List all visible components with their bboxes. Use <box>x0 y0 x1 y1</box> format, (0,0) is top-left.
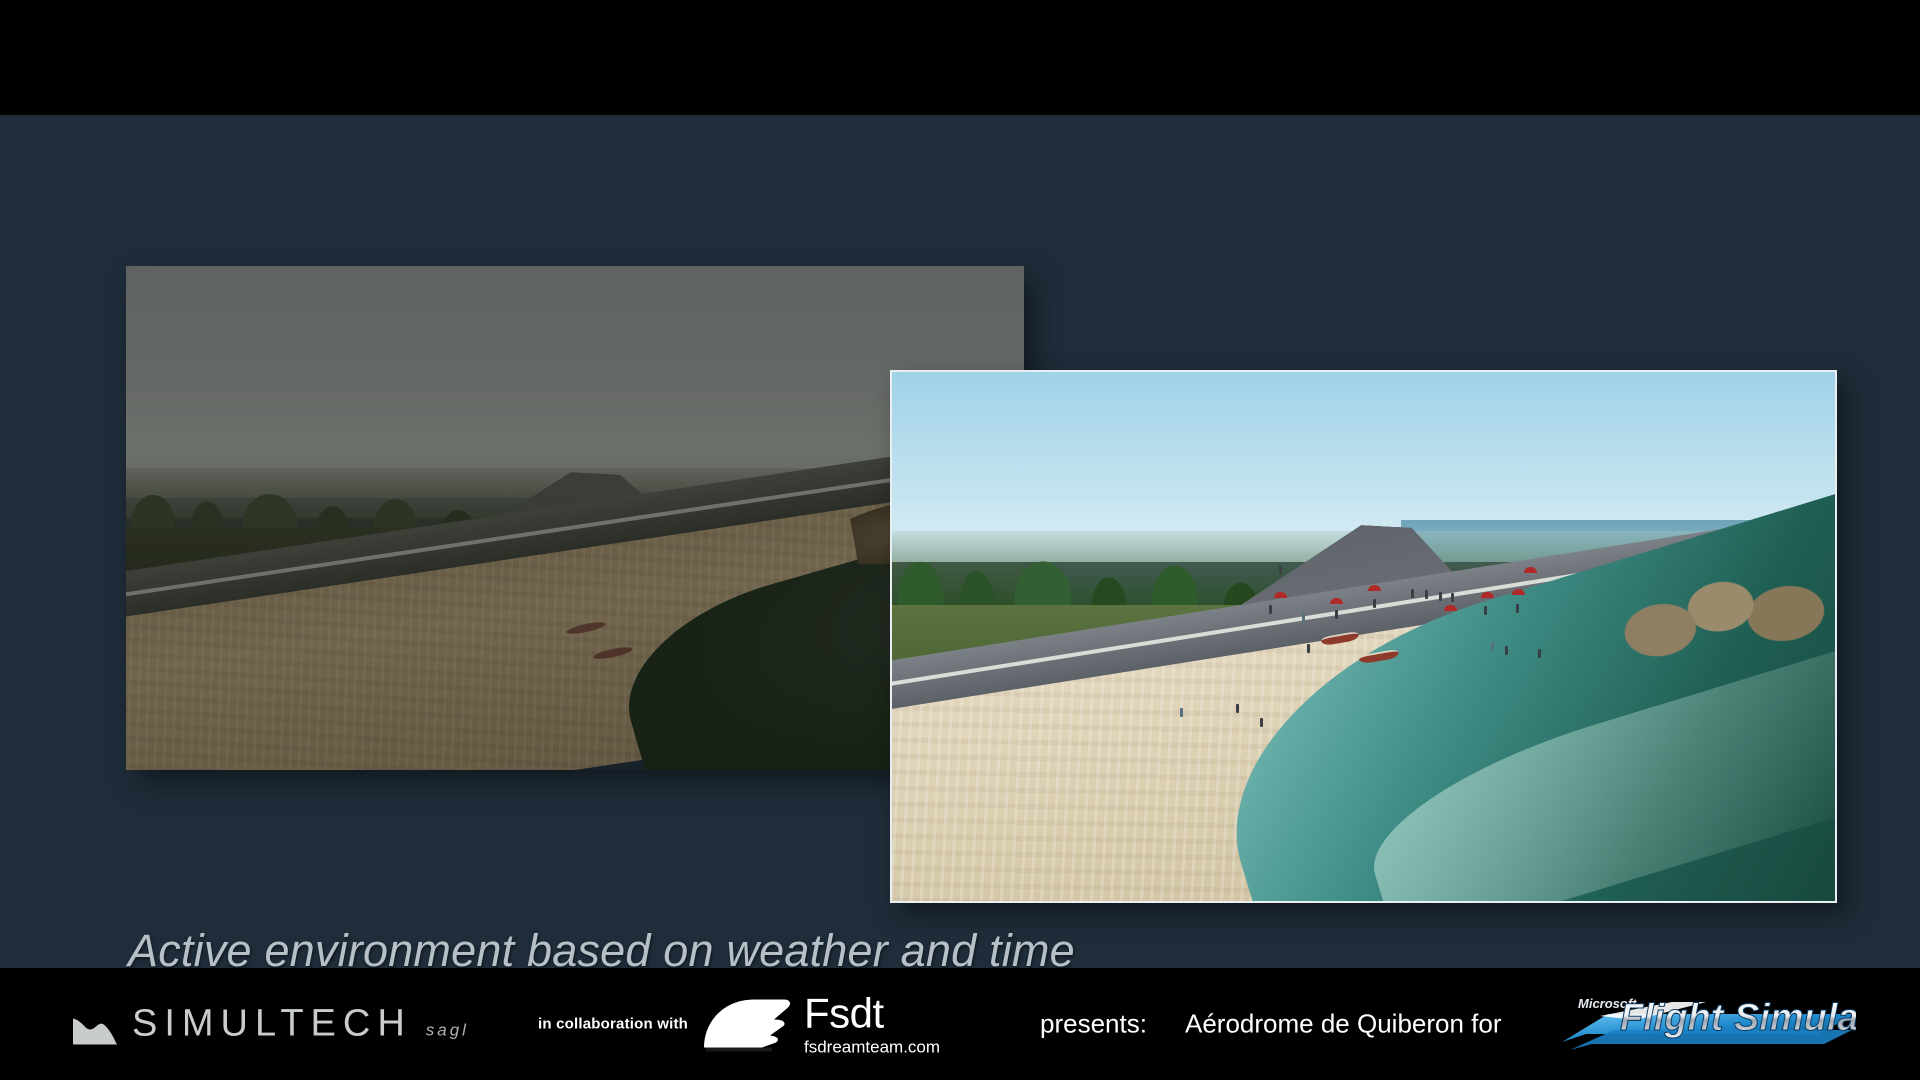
beach-person <box>1505 646 1508 655</box>
fsdt-wing-icon <box>700 995 792 1053</box>
beach-umbrella-icon <box>1524 567 1537 573</box>
simultech-wordmark: SIMULTECH <box>132 1003 412 1046</box>
presents-label: presents: <box>1040 1009 1147 1040</box>
beach-person <box>1425 590 1428 599</box>
beach-person <box>1411 589 1414 598</box>
beach-person <box>1439 592 1442 601</box>
product-title: Aérodrome de Quiberon for <box>1185 1009 1502 1040</box>
beach-person <box>1260 718 1263 727</box>
beach-person <box>1279 565 1282 574</box>
microsoft-flight-simulator-logo[interactable]: Microsoft Flight Simulator <box>1556 986 1856 1062</box>
slide-stage: Active environment based on weather and … <box>0 115 1920 968</box>
beach-person <box>1307 644 1310 653</box>
letterbox-bar-top <box>0 0 1920 115</box>
slide-footer: SIMULTECH sagl in collaboration with Fsd… <box>0 968 1920 1080</box>
fsdt-name: Fsdt <box>804 993 940 1035</box>
beach-person <box>1484 606 1487 615</box>
beach-person <box>1236 704 1239 713</box>
beach-person <box>1180 708 1183 717</box>
msfs-flight-simulator-text: Flight Simulator <box>1620 997 1856 1039</box>
collaboration-label: in collaboration with <box>538 1016 688 1033</box>
beach-person <box>1538 649 1541 658</box>
beach-person <box>1373 599 1376 608</box>
beach-umbrella-icon <box>1444 605 1457 611</box>
beach-umbrella-icon <box>1330 598 1343 604</box>
beach-person <box>1302 613 1305 622</box>
fsdt-logo[interactable]: Fsdt fsdreamteam.com <box>700 993 940 1056</box>
beach-person <box>1335 610 1338 619</box>
simultech-suffix: sagl <box>426 1021 469 1046</box>
fsdt-url: fsdreamteam.com <box>804 1039 940 1056</box>
beach-person <box>1451 593 1454 602</box>
screenshot-daytime-clear[interactable] <box>890 370 1837 903</box>
beach-person <box>1269 605 1272 614</box>
presentation-slide: Active environment based on weather and … <box>0 0 1920 1080</box>
beach-person <box>1491 642 1494 651</box>
simultech-logo[interactable]: SIMULTECH sagl <box>72 1003 469 1046</box>
beach-person <box>1516 604 1519 613</box>
simultech-mountain-wing-icon <box>72 1012 118 1046</box>
